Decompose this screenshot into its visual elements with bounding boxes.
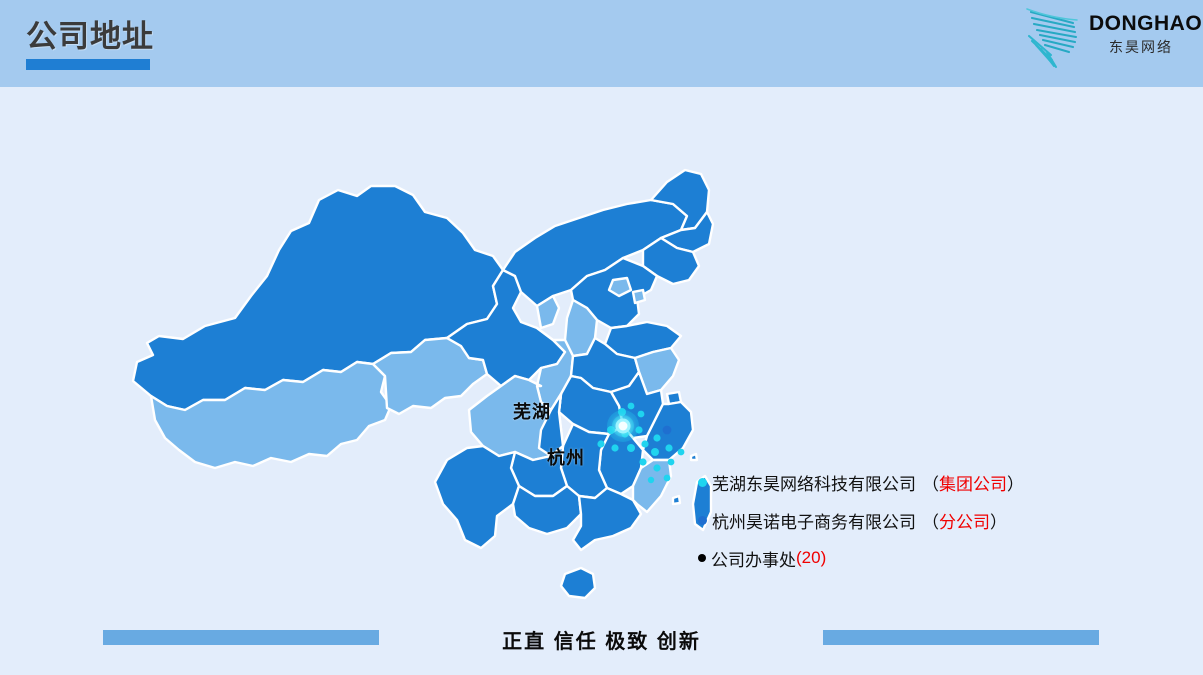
legend-dot-cyan-icon <box>698 478 707 487</box>
legend-company-name: 公司办事处 <box>711 546 796 571</box>
map-label-wuhu: 芜湖 <box>513 398 551 424</box>
title-underline <box>26 59 150 70</box>
title-block: 公司地址 <box>26 17 154 70</box>
page-header: 公司地址 <box>0 0 1203 87</box>
legend-tag-text: 分公司 <box>939 513 990 532</box>
legend-office-count: (20) <box>796 548 826 568</box>
legend: 芜湖东昊网络科技有限公司 （集团公司） 杭州昊诺电子商务有限公司 （分公司） 公… <box>698 463 1138 577</box>
page-title: 公司地址 <box>26 17 154 57</box>
legend-item-offices[interactable]: 公司办事处 (20) <box>698 539 1138 577</box>
map-label-hangzhou: 杭州 <box>547 444 585 470</box>
fan-wing-icon <box>1023 6 1089 70</box>
legend-company-tag: （分公司） <box>922 508 1007 533</box>
logo-text-en: DONGHAO <box>1089 12 1193 36</box>
legend-item-group-company[interactable]: 芜湖东昊网络科技有限公司 （集团公司） <box>698 463 1138 501</box>
branch-marker-hangzhou <box>663 426 672 435</box>
legend-dot-black-icon <box>698 554 706 562</box>
china-map[interactable]: 芜湖 杭州 <box>95 100 715 610</box>
legend-company-tag: （集团公司） <box>922 470 1024 495</box>
map-provinces <box>133 170 713 598</box>
legend-item-branch-company[interactable]: 杭州昊诺电子商务有限公司 （分公司） <box>698 501 1138 539</box>
brand-logo: DONGHAO 东昊网络 <box>1023 4 1195 72</box>
legend-company-name: 芜湖东昊网络科技有限公司 <box>712 470 916 495</box>
footer-slogan: 正直 信任 极致 创新 <box>0 625 1203 654</box>
legend-dot-blue-icon <box>698 516 707 525</box>
china-map-svg <box>95 100 715 610</box>
hq-marker-wuhu <box>607 410 639 442</box>
logo-wordmark: DONGHAO 东昊网络 <box>1089 12 1193 57</box>
legend-company-name: 杭州昊诺电子商务有限公司 <box>712 508 916 533</box>
logo-text-cn: 东昊网络 <box>1089 37 1193 57</box>
legend-tag-text: 集团公司 <box>939 475 1007 494</box>
